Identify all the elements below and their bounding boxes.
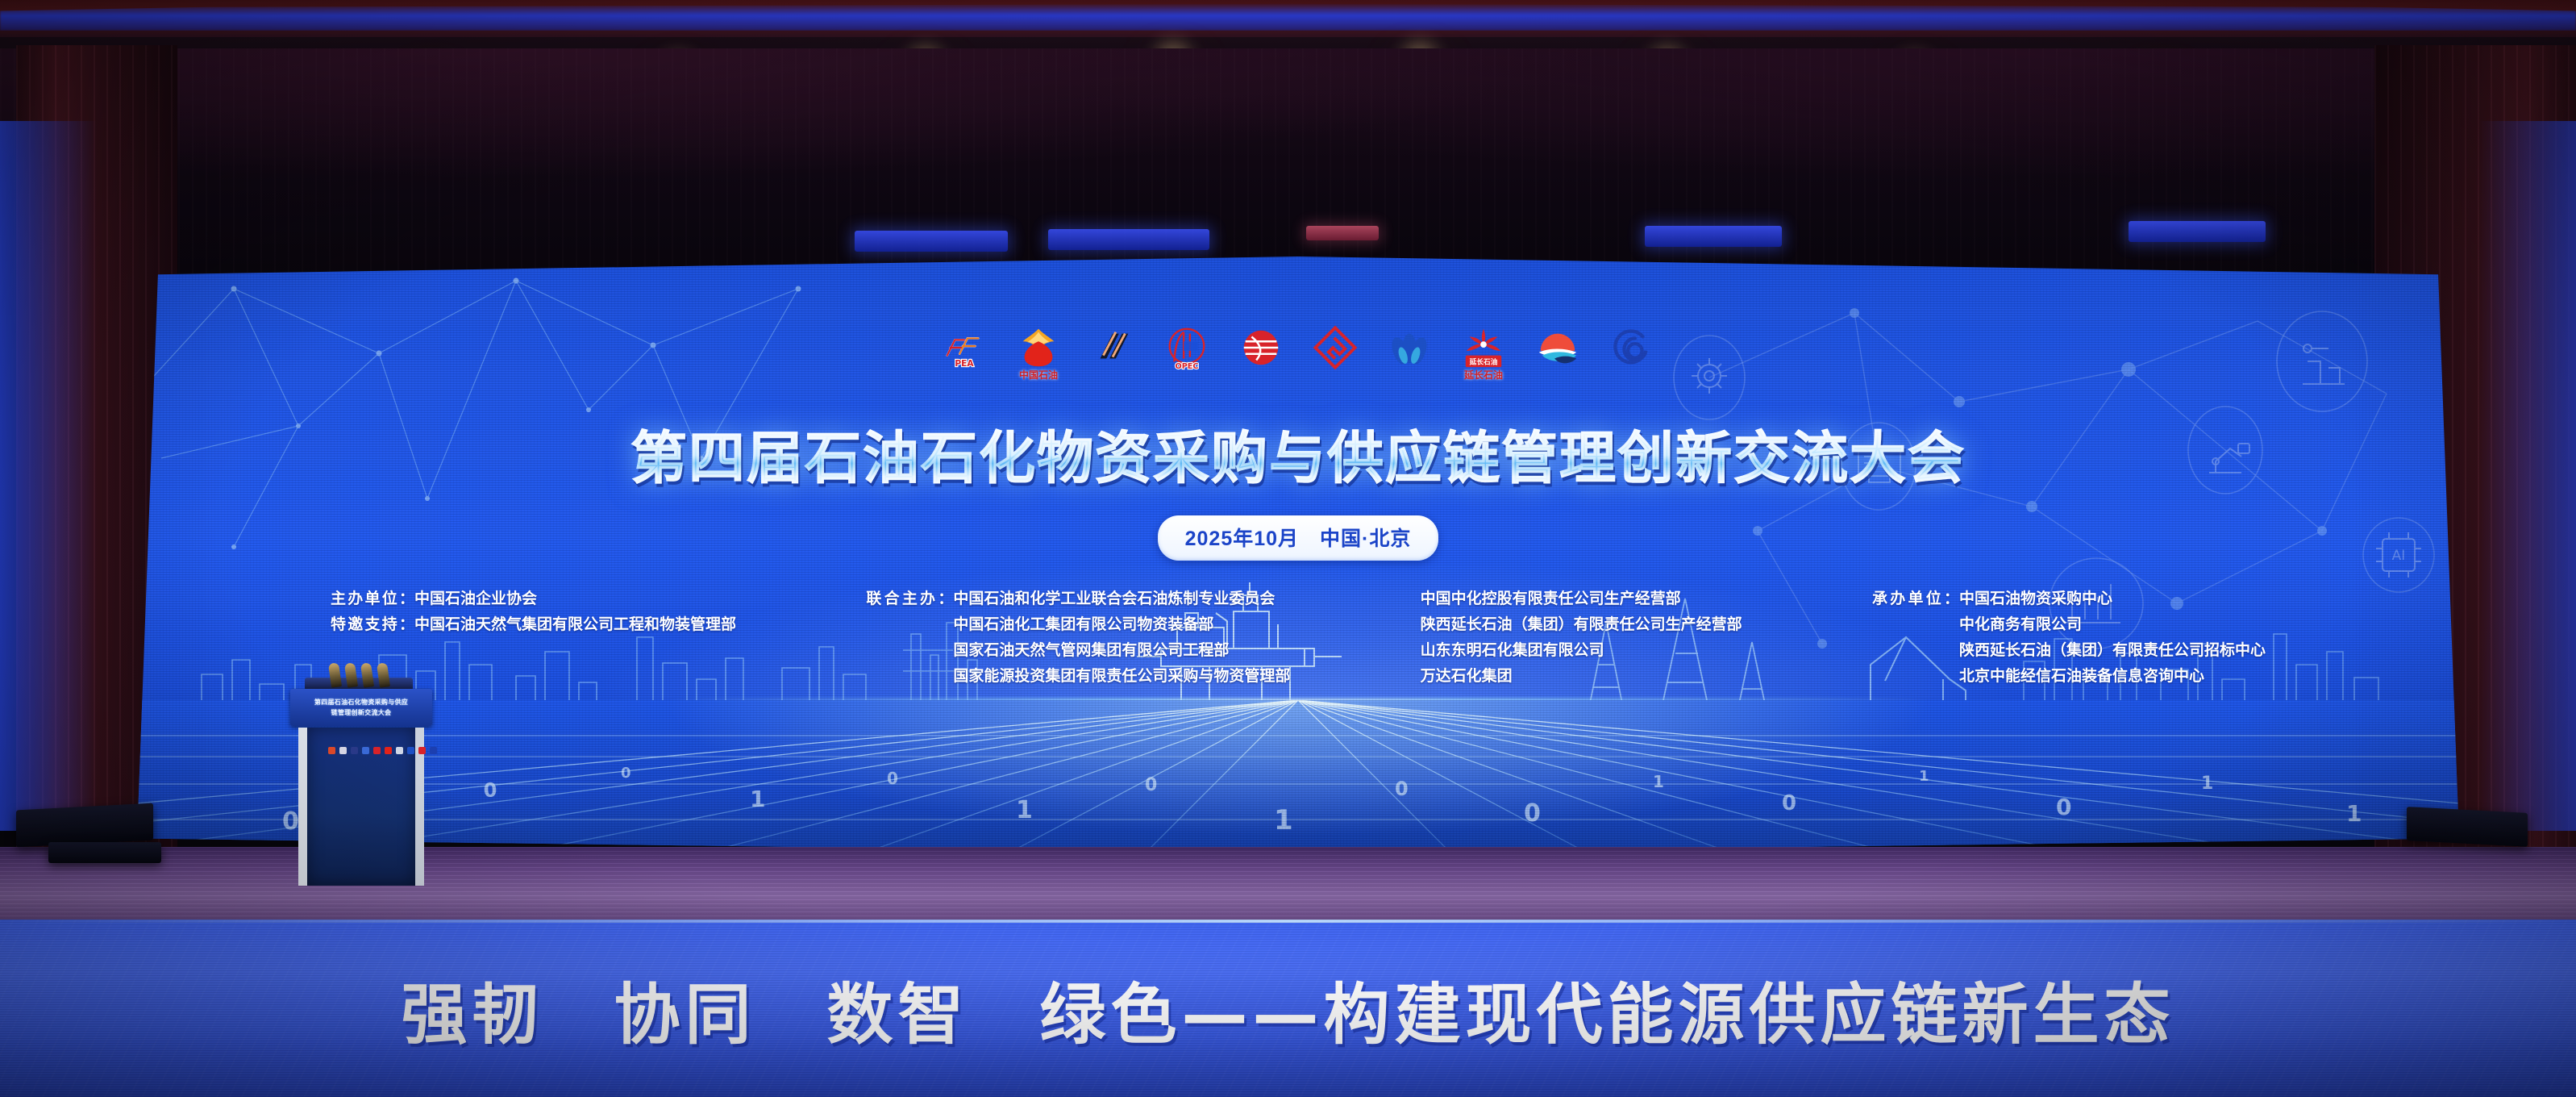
- chinaenergy-logo: [1386, 324, 1433, 371]
- organizer-line: 特邀支持中国石油天然气集团有限公司工程和物装管理部: [331, 617, 736, 634]
- chinaenergy-logo-mini: [396, 747, 403, 754]
- stage-glow-right: [2479, 121, 2576, 831]
- organizer-line: 主办单位国家能源投资集团有限责任公司采购与物资管理部: [866, 669, 1290, 686]
- conference-slogan: 强韧 协同 数智 绿色——构建现代能源供应链新生态: [401, 961, 2174, 1057]
- organizer-line: 主办单位陕西延长石油（集团）有限责任公司生产经营部: [1421, 617, 1742, 634]
- podium-body: [298, 728, 424, 886]
- dongming-petrochem-logo: [1534, 324, 1581, 371]
- conference-title: 第四届石油石化物资采购与供应链管理创新交流大会: [630, 413, 1966, 494]
- organizer-line: 主办单位山东东明石化集团有限公司: [1421, 643, 1742, 660]
- microphone: [343, 662, 357, 688]
- microphone: [327, 662, 341, 688]
- podium-sign-line-2: 链管理创新交流大会: [331, 708, 392, 717]
- cpea-logo-mini: [328, 747, 335, 754]
- organizer-value: 中国石油天然气集团有限公司工程和物装管理部: [414, 617, 736, 634]
- svg-text:延长石油: 延长石油: [1469, 357, 1498, 366]
- sinochem-logo-mini: [351, 747, 358, 754]
- led-backdrop-wall: AI: [137, 257, 2459, 853]
- organizer-line: 主办单位中化商务有限公司: [1872, 617, 2266, 634]
- microphone: [376, 662, 389, 688]
- ceiling-panel-light: [2129, 221, 2266, 242]
- sinopec-logo: OPEC: [1163, 324, 1210, 371]
- date-location-badge: 2025年10月 中国·北京: [1158, 515, 1439, 561]
- dongming-petrochem-logo-mini: [418, 747, 426, 754]
- ceiling-panel-red: [1306, 226, 1379, 240]
- cpea-logo: PEA: [941, 324, 988, 371]
- organizer-line: 主办单位中国石油化工集团有限公司物资装备部: [866, 617, 1290, 634]
- microphone: [360, 662, 373, 688]
- organizer-credits: 主办单位中国石油企业协会特邀支持中国石油天然气集团有限公司工程和物装管理部联合主…: [282, 591, 2314, 686]
- organizer-value: 万达石化集团: [1421, 669, 1513, 686]
- organizer-line: 承办单位中国石油物资采购中心: [1872, 591, 2266, 608]
- organizer-value: 国家能源投资集团有限责任公司采购与物资管理部: [953, 669, 1290, 686]
- microphone-cluster: [314, 660, 403, 687]
- wanda-petrochem-logo-mini: [430, 747, 437, 754]
- organizer-value: 陕西延长石油（集团）有限责任公司招标中心: [1959, 643, 2266, 660]
- pipechina-logo-mini: [373, 747, 381, 754]
- svg-text:OPEC: OPEC: [1176, 362, 1199, 371]
- organizer-label: 特邀支持: [331, 617, 414, 634]
- organizer-line: 主办单位陕西延长石油（集团）有限责任公司招标中心: [1872, 643, 2266, 660]
- organizer-value: 中国中化控股有限责任公司生产经营部: [1421, 591, 1681, 608]
- wanda-petrochem-logo: [1608, 324, 1655, 371]
- svg-text:PEA: PEA: [955, 358, 974, 369]
- organizer-value: 北京中能经信石油装备信息咨询中心: [1959, 669, 2204, 686]
- stage-apron-led-band: 强韧 协同 数智 绿色——构建现代能源供应链新生态: [0, 920, 2576, 1097]
- pipechina-logo: [1238, 324, 1284, 371]
- yanchang-petroleum-logo: 延长石油延长石油: [1460, 324, 1507, 371]
- organizer-value: 中化商务有限公司: [1959, 617, 2082, 634]
- venue-stage-scene: AI: [0, 0, 2576, 1097]
- stage-monitor-right: [2407, 807, 2528, 847]
- organizer-line: 主办单位中国中化控股有限责任公司生产经营部: [1421, 591, 1742, 608]
- organizer-line: 主办单位中国石油企业协会: [331, 591, 736, 608]
- organizer-value: 国家石油天然气管网集团有限公司工程部: [953, 643, 1229, 660]
- organizer-label: 联合主办: [866, 591, 953, 608]
- shaanxi-coal-logo: [1312, 324, 1359, 371]
- sponsor-logo-row: PEA 中国石油 OPEC: [941, 321, 1655, 371]
- ceiling-blue-wash: [0, 3, 2576, 31]
- ceiling-panel-light: [855, 231, 1008, 252]
- cnpc-logo-caption: 中国石油: [1019, 368, 1058, 382]
- podium-logo-strip: [328, 747, 437, 754]
- ceiling-panel-light: [1048, 229, 1209, 250]
- organizer-label: 主办单位: [331, 591, 414, 608]
- organizer-label: 承办单位: [1872, 591, 1959, 608]
- ceiling-panel-light: [1645, 226, 1782, 247]
- organizer-value: 中国石油化工集团有限公司物资装备部: [953, 617, 1213, 634]
- apron-top-glow: [0, 920, 2576, 923]
- yanchang-petroleum-logo-caption: 延长石油: [1464, 368, 1503, 382]
- yanchang-petroleum-logo-mini: [407, 747, 414, 754]
- cnpc-logo: 中国石油: [1015, 324, 1062, 371]
- organizer-line: 主办单位北京中能经信石油装备信息咨询中心: [1872, 669, 2266, 686]
- organizer-column-col-3: 主办单位中国中化控股有限责任公司生产经营部主办单位陕西延长石油（集团）有限责任公…: [1421, 591, 1742, 686]
- organizer-value: 中国石油企业协会: [414, 591, 537, 608]
- podium-sign-line-1: 第四届石油石化物资采购与供应: [314, 698, 408, 707]
- organizer-line: 联合主办中国石油和化学工业联合会石油炼制专业委员会: [866, 591, 1290, 608]
- organizer-line: 主办单位国家石油天然气管网集团有限公司工程部: [866, 643, 1290, 660]
- sinochem-logo: [1089, 324, 1136, 371]
- speaker-podium: 第四届石油石化物资采购与供应 链管理创新交流大会: [281, 660, 442, 902]
- sinopec-logo-mini: [362, 747, 369, 754]
- organizer-value: 陕西延长石油（集团）有限责任公司生产经营部: [1421, 617, 1742, 634]
- stage-monitor-left-2: [48, 842, 161, 863]
- organizer-column-col-1: 主办单位中国石油企业协会特邀支持中国石油天然气集团有限公司工程和物装管理部: [331, 591, 736, 634]
- organizer-value: 山东东明石化集团有限公司: [1421, 643, 1604, 660]
- organizer-column-col-2: 联合主办中国石油和化学工业联合会石油炼制专业委员会主办单位中国石油化工集团有限公…: [866, 591, 1290, 686]
- organizer-value: 中国石油物资采购中心: [1959, 591, 2112, 608]
- organizer-value: 中国石油和化学工业联合会石油炼制专业委员会: [953, 591, 1275, 608]
- organizer-line: 主办单位万达石化集团: [1421, 669, 1742, 686]
- cnpc-logo-mini: [339, 747, 347, 754]
- podium-title-sign: 第四届石油石化物资采购与供应 链管理创新交流大会: [290, 689, 432, 726]
- shaanxi-coal-logo-mini: [385, 747, 392, 754]
- stage-monitor-left: [16, 803, 153, 848]
- organizer-column-col-4: 承办单位中国石油物资采购中心主办单位中化商务有限公司主办单位陕西延长石油（集团）…: [1872, 591, 2266, 686]
- stage-glow-left: [0, 121, 97, 831]
